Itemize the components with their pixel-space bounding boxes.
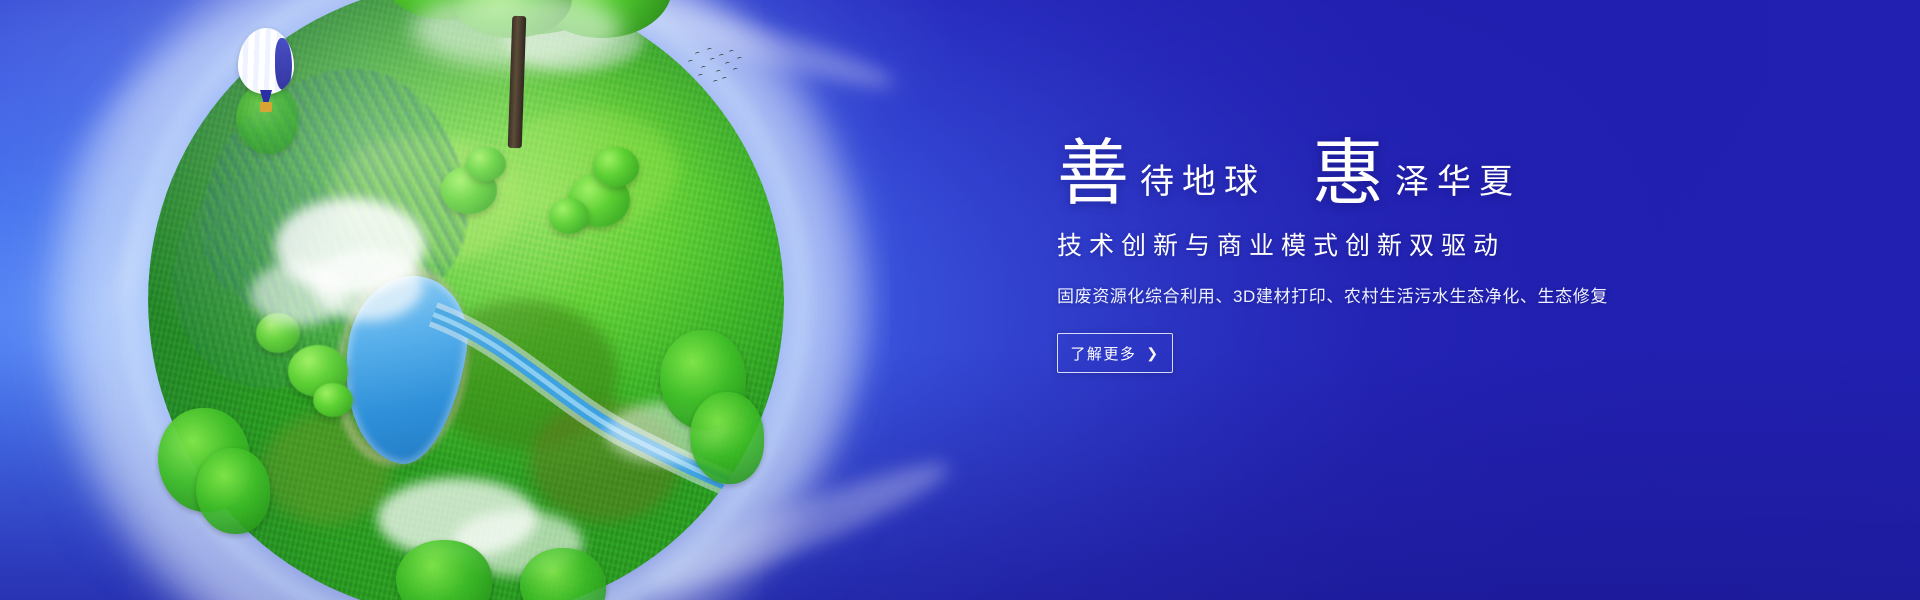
bird-flock-icon: [688, 46, 742, 88]
hero-banner: 善 待地球 惠 泽华夏 技术创新与商业模式创新双驱动 固废资源化综合利用、3D建…: [0, 0, 1920, 600]
balloon-envelope: [238, 28, 294, 94]
balloon-neck: [260, 90, 272, 102]
hot-air-balloon-icon: [238, 28, 294, 120]
headline: 善 待地球 惠 泽华夏: [1057, 120, 1757, 204]
balloon-basket: [260, 102, 272, 112]
headline-rest-2: 泽华夏: [1395, 166, 1521, 200]
learn-more-button[interactable]: 了解更多 ❯: [1057, 333, 1173, 373]
headline-subtitle: 技术创新与商业模式创新双驱动: [1057, 226, 1757, 262]
headline-accent-2: 惠: [1312, 138, 1385, 210]
service-description: 固废资源化综合利用、3D建材打印、农村生活污水生态净化、生态修复: [1057, 282, 1757, 307]
headline-accent-1: 善: [1057, 138, 1130, 210]
headline-rest-1: 待地球: [1140, 166, 1266, 200]
rim-tree-icon: [690, 392, 764, 484]
hero-copy: 善 待地球 惠 泽华夏 技术创新与商业模式创新双驱动 固废资源化综合利用、3D建…: [1057, 120, 1757, 373]
rim-tree-icon: [196, 448, 270, 534]
learn-more-label: 了解更多: [1070, 343, 1136, 364]
balloon-stripe: [275, 38, 292, 90]
chevron-right-icon: ❯: [1146, 345, 1159, 362]
